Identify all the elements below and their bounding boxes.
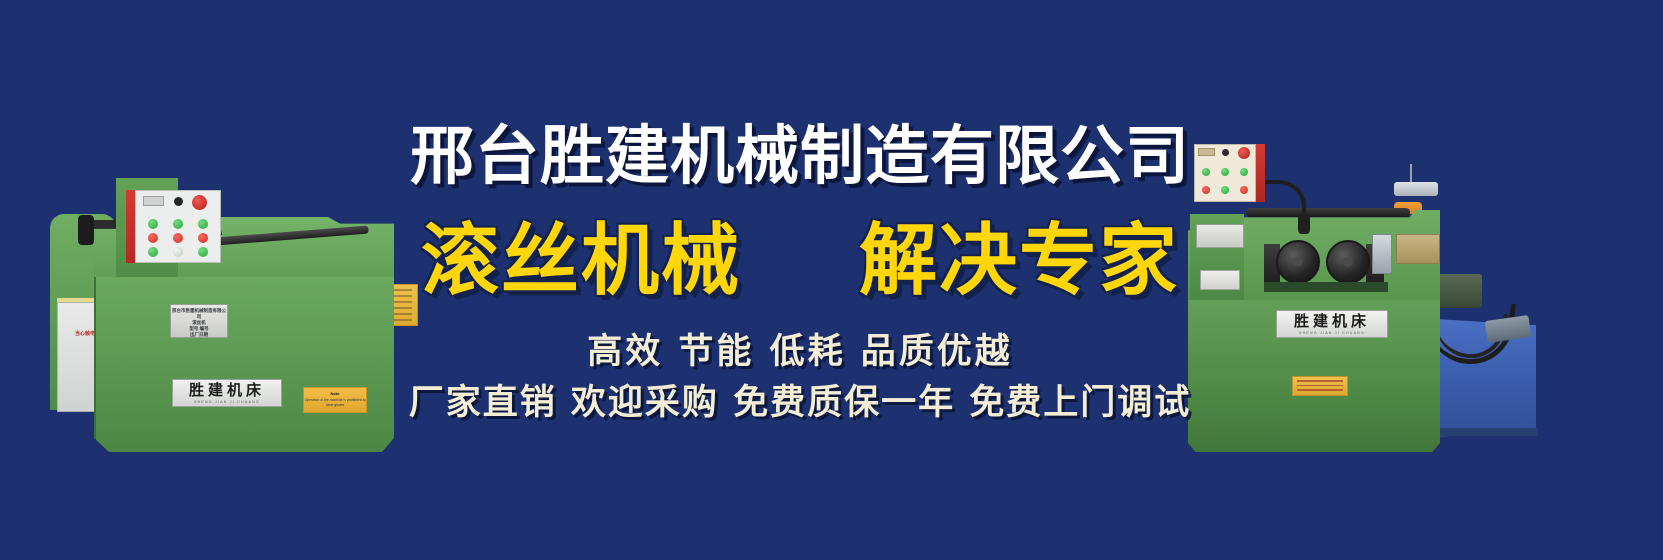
emergency-stop-button[interactable]	[192, 195, 207, 210]
company-name: 邢台胜建机械制造有限公司	[410, 105, 1190, 197]
machine-spec-plate-text: 邢台市胜建机械制造有限公司 滚丝机 型号 编号 出厂日期	[170, 308, 228, 338]
machine-main-body	[94, 277, 394, 452]
promotional-banner: 当心触电 邢台市胜建机械制造有限公司 滚丝机 型号 编号 出厂日期 胜建机床 S…	[0, 0, 1663, 560]
machine-aux-plate-right	[1200, 270, 1240, 290]
chip-tray	[1264, 282, 1388, 292]
subline-services: 厂家直销 欢迎采购 免费质保一年 免费上门调试	[409, 374, 1192, 425]
cable-junction-box	[1298, 214, 1310, 234]
panel-button-right-6[interactable]	[1240, 186, 1248, 194]
machine-brand-nameplate-right: 胜建机床 SHENG JIAN JI CHUANG	[1276, 310, 1388, 338]
brand-name-cn: 胜建机床	[189, 383, 265, 398]
lubricant-tank	[1394, 182, 1438, 196]
headline-right: 解决专家	[859, 198, 1179, 310]
brand-name-pinyin-right: SHENG JIAN JI CHUANG	[1299, 331, 1365, 335]
panel-button-right-1[interactable]	[1202, 168, 1210, 176]
control-valve	[1372, 234, 1392, 274]
panel-button-8[interactable]	[173, 247, 183, 257]
emergency-stop-button-right[interactable]	[1238, 147, 1250, 159]
control-button-grid-right[interactable]	[1197, 164, 1253, 198]
warning-sticker-right	[1292, 376, 1348, 396]
subline-features: 高效 节能 低耗 品质优越	[587, 323, 1013, 374]
brand-name-pinyin: SHENG JIAN JI CHUANG	[194, 400, 260, 404]
panel-button-4[interactable]	[148, 233, 158, 243]
digital-display-right	[1198, 148, 1215, 156]
machine-brand-nameplate: 胜建机床 SHENG JIAN JI CHUANG	[172, 379, 282, 407]
warning-sticker-text: Operation of the machine is prohibited t…	[304, 398, 366, 408]
panel-button-6[interactable]	[198, 233, 208, 243]
brand-name-cn-right: 胜建机床	[1294, 314, 1370, 329]
control-button-grid[interactable]	[140, 216, 216, 260]
thread-rolling-machine-right: 胜建机床 SHENG JIAN JI CHUANG	[1168, 122, 1588, 452]
panel-button-right-5[interactable]	[1221, 186, 1229, 194]
digital-display	[143, 196, 164, 206]
machine-spec-plate-right	[1196, 224, 1244, 248]
warning-sticker: Note Operation of the machine is prohibi…	[303, 387, 367, 413]
thread-rolling-machine-left: 当心触电 邢台市胜建机械制造有限公司 滚丝机 型号 编号 出厂日期 胜建机床 S…	[22, 92, 424, 470]
rotary-knob-icon-right[interactable]	[1222, 149, 1229, 156]
panel-button-5[interactable]	[173, 233, 183, 243]
panel-button-right-3[interactable]	[1240, 168, 1248, 176]
panel-button-right-4[interactable]	[1202, 186, 1210, 194]
panel-button-right-2[interactable]	[1221, 168, 1229, 176]
panel-button-9[interactable]	[198, 247, 208, 257]
oil-level-rod	[1410, 164, 1412, 184]
panel-button-7[interactable]	[148, 247, 158, 257]
thread-roller-die-right-2	[1326, 240, 1370, 284]
spec-line-1: 邢台市胜建机械制造有限公司	[170, 308, 228, 320]
panel-button-1[interactable]	[148, 219, 158, 229]
banner-text-block: 邢台胜建机械制造有限公司 滚丝机械 解决专家 高效 节能 低耗 品质优越 厂家直…	[400, 0, 1200, 560]
warning-sticker-title: Note	[304, 391, 366, 396]
panel-button-3[interactable]	[198, 219, 208, 229]
rotary-knob-icon[interactable]	[174, 197, 183, 206]
headline-left: 滚丝机械	[421, 198, 741, 310]
brass-spec-plate	[1396, 234, 1440, 264]
panel-button-2[interactable]	[173, 219, 183, 229]
spec-line-4: 出厂日期	[170, 332, 228, 338]
thread-roller-die-right-1	[1276, 240, 1320, 284]
headline-row: 滚丝机械 解决专家	[421, 198, 1179, 310]
